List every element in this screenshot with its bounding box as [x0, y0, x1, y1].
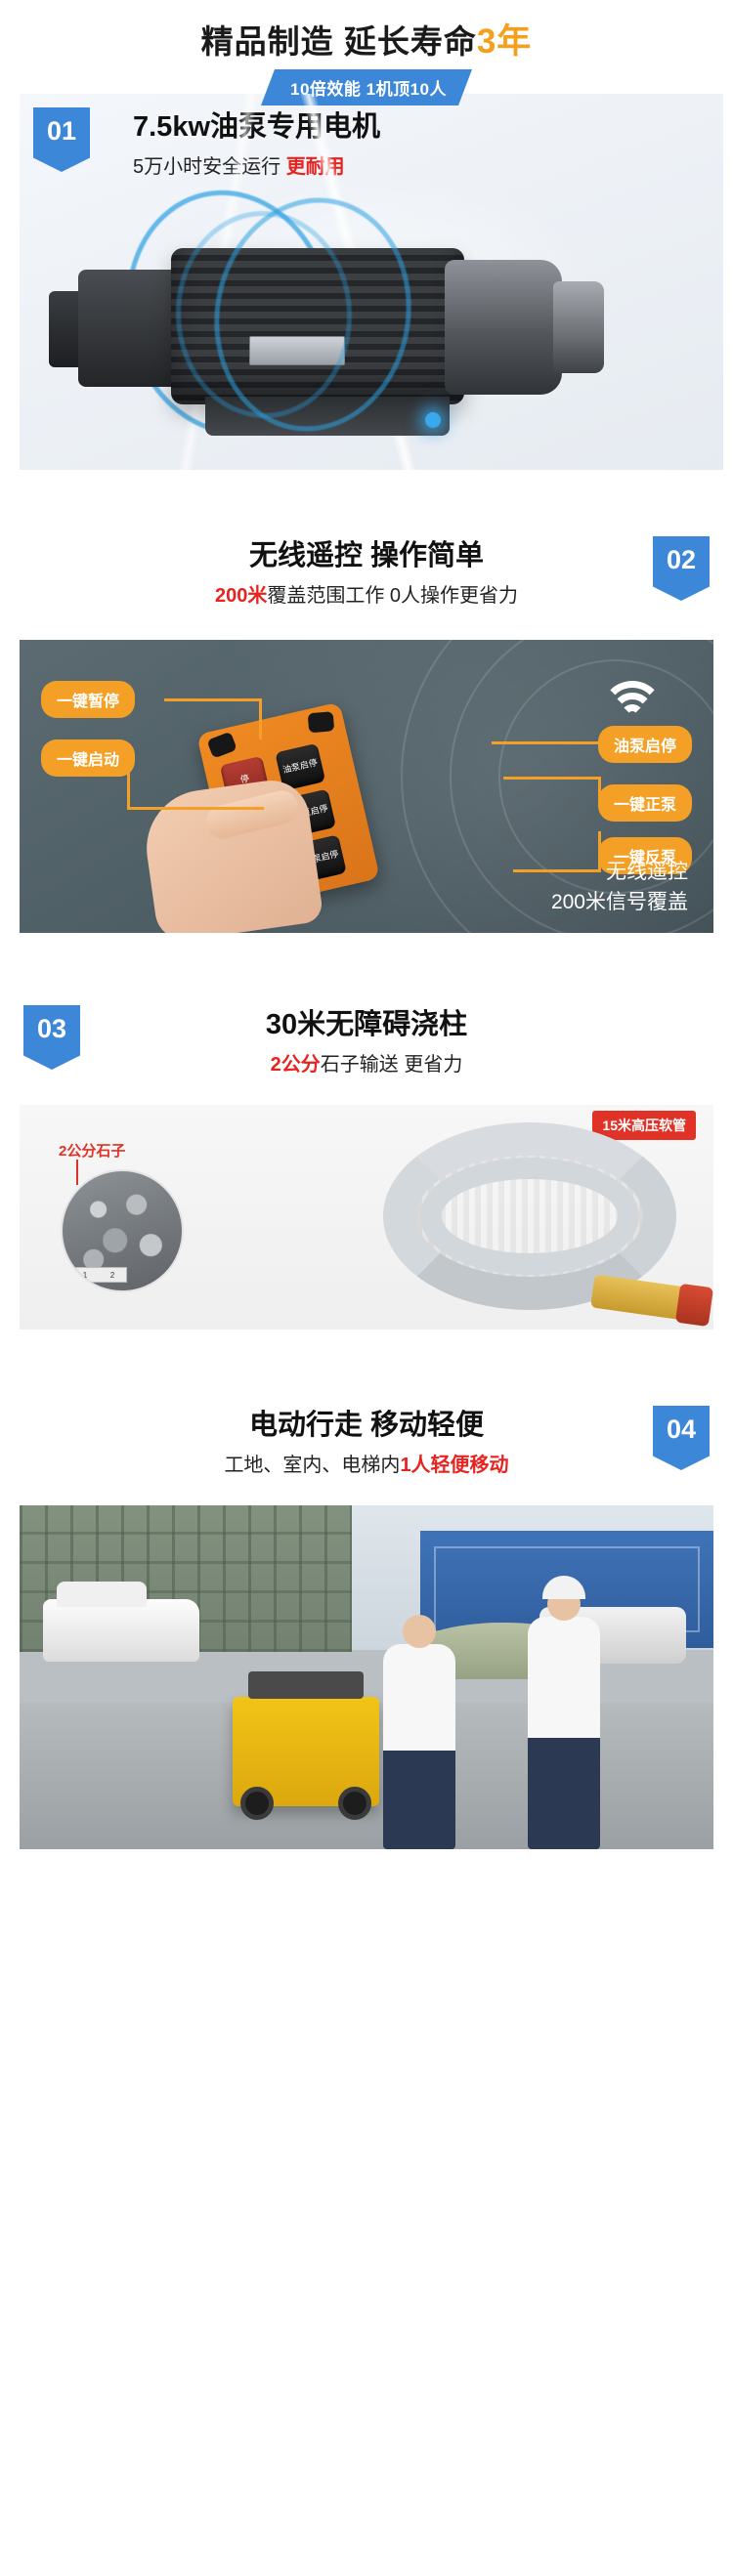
section-02-subtitle: 200米覆盖范围工作 0人操作更省力	[0, 579, 733, 608]
worker-person	[528, 1617, 600, 1849]
motor-front-housing	[445, 260, 562, 395]
section-02-image: 停 油泵启停 动 正泵启停 备用 反泵启停 一键暂停 一键启动 油泵启停 一键正…	[20, 640, 713, 933]
scale-mark-1: 1	[83, 1271, 87, 1280]
section-04-titles: 电动行走 移动轻便 工地、室内、电梯内1人轻便移动	[0, 1406, 733, 1477]
section-04-image	[20, 1505, 713, 1849]
tag-hose-label: 15米高压软管	[592, 1111, 696, 1140]
page-title: 精品制造 延长寿命3年	[0, 0, 733, 63]
section-02-header: 无线遥控 操作简单 200米覆盖范围工作 0人操作更省力 02	[0, 536, 733, 626]
section-02-subtitle-plain: 覆盖范围工作 0人操作更省力	[267, 585, 518, 607]
concrete-pump-machine	[233, 1697, 379, 1806]
motor-led-indicator	[425, 412, 441, 428]
motor-shaft-cap	[553, 281, 604, 373]
section-02-titles: 无线遥控 操作简单 200米覆盖范围工作 0人操作更省力	[0, 536, 733, 608]
section-04-subtitle-plain: 工地、室内、电梯内	[224, 1455, 400, 1476]
section-03-header: 03 30米无障碍浇柱 2公分石子输送 更省力	[0, 1005, 733, 1099]
page-title-accent: 3年	[477, 22, 532, 61]
section-01: 01 7.5kw油泵专用电机 5万小时安全运行 更耐用	[0, 94, 733, 470]
section-02-title: 无线遥控 操作简单	[0, 540, 733, 572]
motor-illustration	[49, 231, 645, 426]
section-02-note-line1: 无线遥控	[551, 858, 688, 887]
machine-wheel-right	[338, 1787, 371, 1820]
section-04-subtitle: 工地、室内、电梯内1人轻便移动	[0, 1449, 733, 1477]
section-01-image: 01 7.5kw油泵专用电机 5万小时安全运行 更耐用	[10, 94, 723, 470]
hose-coil-inner	[420, 1158, 639, 1275]
remote-screw-right	[308, 711, 335, 733]
section-04-title: 电动行走 移动轻便	[0, 1410, 733, 1442]
callout-leader-line	[492, 741, 601, 744]
section-03-image: 15米高压软管 2公分石子 1 2	[20, 1105, 713, 1330]
section-02-note-line2: 200米信号覆盖	[551, 888, 688, 917]
callout-pause: 一键暂停	[41, 681, 135, 718]
motor-rear-housing	[78, 270, 186, 387]
stone-sample-photo: 1 2	[61, 1169, 184, 1292]
section-04-header: 电动行走 移动轻便 工地、室内、电梯内1人轻便移动 04	[0, 1406, 733, 1496]
page-header: 精品制造 延长寿命3年 10倍效能 1机顶10人	[0, 0, 733, 94]
worker-person	[383, 1644, 455, 1849]
scale-mark-2: 2	[110, 1271, 114, 1280]
section-03-subtitle: 2公分石子输送 更省力	[0, 1048, 733, 1077]
white-van	[43, 1599, 199, 1662]
tag-stone-label: 2公分石子	[59, 1140, 125, 1161]
section-03-titles: 30米无障碍浇柱 2公分石子输送 更省力	[0, 1005, 733, 1077]
section-02-subtitle-highlight: 200米	[215, 585, 267, 607]
stone-scale-ruler: 1 2	[70, 1267, 127, 1283]
callout-leader-line	[127, 759, 264, 810]
hose-coupler	[590, 1274, 688, 1320]
callout-leader-line	[503, 777, 601, 802]
page-title-main: 精品制造 延长寿命	[201, 23, 477, 60]
machine-wheel-left	[240, 1787, 274, 1820]
callout-forward: 一键正泵	[598, 784, 692, 822]
section-02: 无线遥控 操作简单 200米覆盖范围工作 0人操作更省力 02	[0, 536, 733, 933]
callout-pump: 油泵启停	[598, 726, 692, 763]
callout-leader-line	[164, 698, 262, 739]
section-03: 03 30米无障碍浇柱 2公分石子输送 更省力 15米高压软管 2公分石子 1 …	[0, 1005, 733, 1330]
callout-start: 一键启动	[41, 739, 135, 777]
section-03-title: 30米无障碍浇柱	[0, 1009, 733, 1041]
product-detail-page: 精品制造 延长寿命3年 10倍效能 1机顶10人	[0, 0, 733, 2576]
section-02-note: 无线遥控 200米信号覆盖	[551, 858, 688, 917]
wifi-arc-inner	[621, 704, 644, 728]
section-03-subtitle-plain: 石子输送 更省力	[321, 1054, 463, 1076]
section-04: 电动行走 移动轻便 工地、室内、电梯内1人轻便移动 04	[0, 1406, 733, 1849]
section-03-subtitle-highlight: 2公分	[271, 1054, 321, 1076]
section-04-subtitle-highlight: 1人轻便移动	[400, 1455, 508, 1476]
